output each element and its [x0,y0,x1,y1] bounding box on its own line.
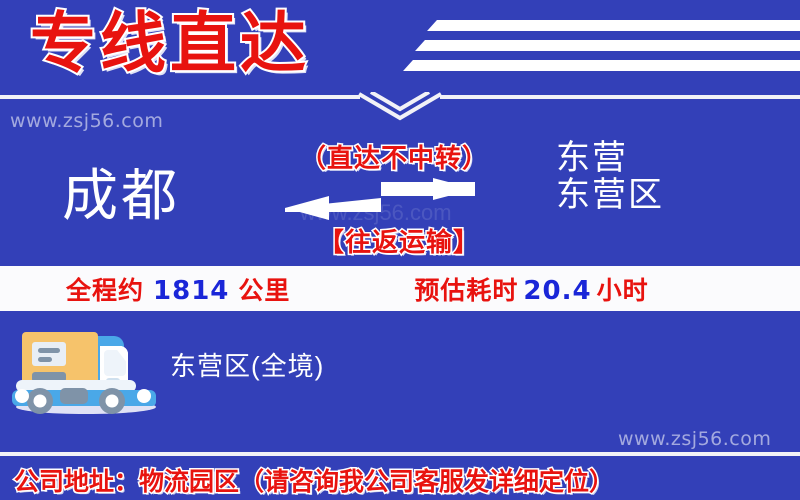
direct-service-tag: （直达不中转） [300,138,489,175]
coverage-area-label: 东营区(全境) [170,346,324,383]
roundtrip-service-tag: 【往返运输】 [318,222,480,259]
diagonal-stripe-decoration [403,60,800,71]
bottom-divider [0,452,800,456]
distance-prefix-label: 全程约 [66,271,144,307]
diagonal-stripe-decoration [415,40,800,51]
route-info-band: 全程约 1814 公里 预估耗时 20.4 小时 [0,266,800,311]
divider-line-left [0,95,360,99]
diagonal-stripe-decoration [427,20,800,31]
duration-prefix-label: 预估耗时 [414,271,518,307]
origin-city-label: 成都 [62,168,180,224]
distance-unit-label: 公里 [238,271,290,307]
duration-value: 20.4 [523,276,591,306]
destination-city-label: 东营 [556,140,664,177]
chevron-down-icon [355,92,445,122]
duration-unit-label: 小时 [597,271,649,307]
watermark-bottom: www.zsj56.com [618,428,771,450]
bidirectional-arrow-icon [285,178,475,222]
delivery-truck-icon [8,322,163,417]
page-title: 专线直达 [30,6,310,82]
destination-block: 东营 东营区 [556,140,664,213]
distance-value: 1814 [153,276,229,306]
distance-info: 全程约 1814 公里 [66,271,290,307]
watermark-top: www.zsj56.com [10,110,163,132]
destination-district-label: 东营区 [556,177,664,214]
company-address-label: 公司地址：物流园区（请咨询我公司客服发详细定位） [14,462,614,498]
logistics-route-banner: 专线直达 www.zsj56.com www.zsj56.com www.zsj… [0,0,800,500]
duration-info: 预估耗时 20.4 小时 [414,271,648,307]
divider-line-right [440,95,800,99]
